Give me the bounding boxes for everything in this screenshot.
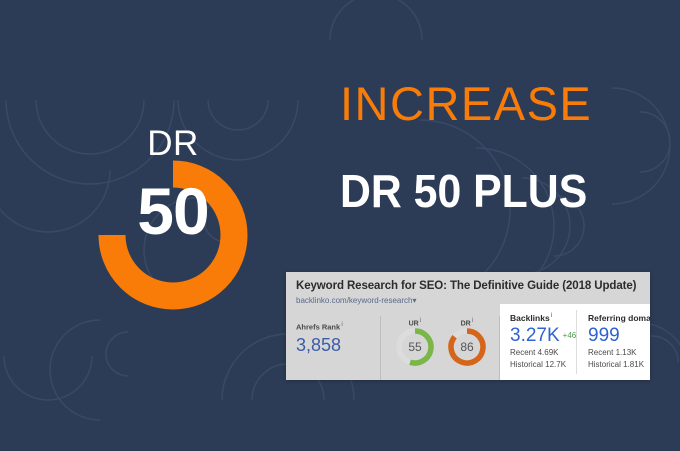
headline-increase: INCREASE: [340, 80, 592, 127]
dr-gauge-label: DR: [98, 126, 248, 161]
backlinks-value: 3.27K: [510, 325, 560, 346]
referring-domains-label: Referring domainsi: [588, 313, 650, 322]
ahrefs-rank-value: 3,858: [296, 336, 343, 356]
backlinks-panel: Backlinksi 3.27K+46 Recent 4.69K Histori…: [500, 304, 650, 380]
chevron-down-icon[interactable]: ▾: [413, 296, 417, 305]
referring-domains-metric: Referring domainsi 999 Recent 1.13K Hist…: [588, 313, 650, 370]
backlinks-delta: +46: [563, 331, 577, 340]
referring-domains-label-text: Referring domains: [588, 313, 650, 323]
referring-domains-value: 999: [588, 325, 650, 347]
backlinks-label: Backlinksi: [510, 313, 576, 322]
ahrefs-rank-label-text: Ahrefs Rank: [296, 322, 340, 331]
ahrefs-rank-metric: Ahrefs Ranki 3,858: [286, 310, 343, 356]
referring-domains-recent: Recent 1.13K: [588, 347, 650, 359]
backlinks-recent: Recent 4.69K: [510, 347, 576, 359]
promo-banner: DR 50 INCREASE DR 50 PLUS Keyword Resear…: [0, 0, 680, 451]
backlinks-label-text: Backlinks: [510, 313, 550, 323]
ur-value: 55: [394, 341, 436, 353]
divider-after-rank: [380, 316, 381, 380]
card-dr-value: 86: [446, 341, 488, 353]
headline-dr-50-plus: DR 50 PLUS: [340, 168, 587, 214]
info-icon[interactable]: i: [420, 318, 422, 324]
backlinks-metric: Backlinksi 3.27K+46 Recent 4.69K Histori…: [510, 313, 576, 370]
card-title: Keyword Research for SEO: The Definitive…: [296, 280, 636, 292]
backlinks-value-row: 3.27K+46: [510, 325, 576, 347]
info-icon[interactable]: i: [551, 313, 553, 319]
backlinks-historical: Historical 12.7K: [510, 359, 576, 371]
ahrefs-rank-label: Ahrefs Ranki: [296, 322, 343, 331]
ahrefs-metrics-card: Keyword Research for SEO: The Definitive…: [286, 272, 650, 380]
card-url-text: backlinko.com/keyword-research: [296, 296, 413, 305]
dr-gauge-value: 50: [98, 178, 248, 244]
info-icon[interactable]: i: [341, 322, 343, 328]
referring-domains-historical: Historical 1.81K: [588, 359, 650, 371]
info-icon[interactable]: i: [472, 318, 474, 324]
card-url[interactable]: backlinko.com/keyword-research▾: [296, 296, 417, 305]
